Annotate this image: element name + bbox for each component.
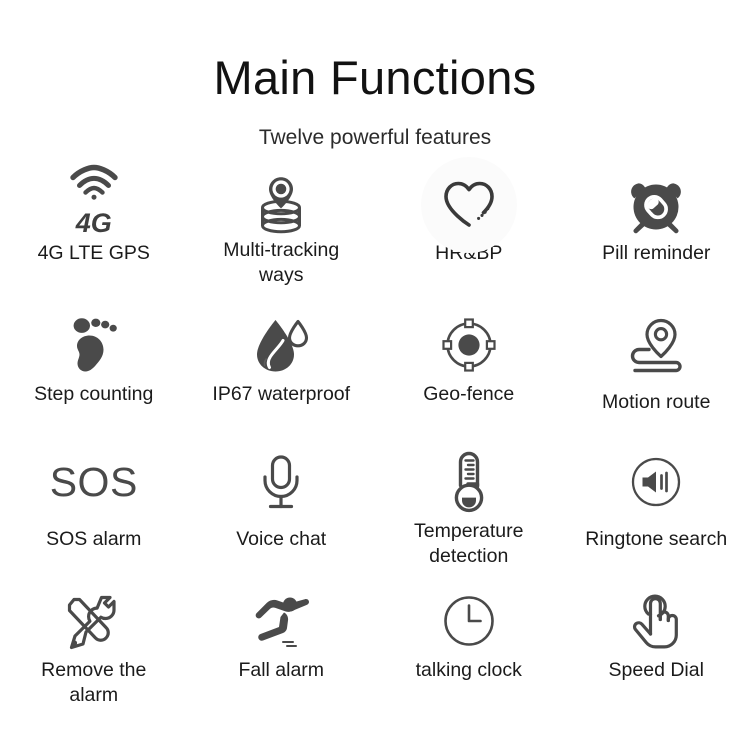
icon-container: 4G [55,172,133,238]
footprint-icon [68,316,120,374]
icon-container [242,448,320,516]
feature-label: Step counting [34,382,153,407]
icon-container [55,587,133,655]
icon-container [617,172,695,238]
feature-label: Pill reminder [602,241,710,266]
feature-label: IP67 waterproof [212,382,350,407]
feature-sos-alarm[interactable]: SOS SOS alarm [0,442,188,577]
feature-fall-alarm[interactable]: Fall alarm [188,577,376,712]
feature-talking-clock[interactable]: talking clock [375,577,563,712]
clock-icon [443,595,495,647]
geo-fence-icon [441,317,497,373]
feature-ip67-waterproof[interactable]: IP67 waterproof [188,307,376,442]
tap-hand-icon [631,593,681,649]
feature-label: Remove the alarm [41,658,146,708]
icon-container [617,448,695,516]
feature-pill-reminder[interactable]: Pill reminder [563,172,750,307]
feature-step-counting[interactable]: Step counting [0,307,188,442]
feature-4g-lte-gps[interactable]: 4G 4G LTE GPS [0,172,188,307]
4g-badge-label: 4G [76,201,112,245]
speaker-volume-icon [631,457,681,507]
header: Main Functions Twelve powerful features [0,0,750,151]
icon-container [430,172,508,238]
feature-remove-the-alarm[interactable]: Remove the alarm [0,577,188,712]
feature-temperature-detection[interactable]: Temperature detection [375,442,563,577]
feature-label: Temperature detection [414,519,523,569]
feature-geo-fence[interactable]: Geo-fence [375,307,563,442]
features-grid: 4G 4G LTE GPS Multi-tracking ways [0,172,750,712]
feature-label: Ringtone search [585,527,727,552]
alarm-clock-pill-icon [627,176,685,234]
falling-person-icon [251,595,311,647]
feature-label: SOS alarm [46,527,141,552]
microphone-icon [259,454,303,510]
icon-container [55,311,133,379]
feature-ringtone-search[interactable]: Ringtone search [563,442,750,577]
icon-container [242,311,320,379]
thermometer-icon [451,451,487,513]
feature-label: Motion route [602,390,710,415]
feature-label: talking clock [416,658,522,683]
feature-label: 4G LTE GPS [38,241,150,266]
water-drop-icon [253,316,309,374]
icon-container [617,587,695,655]
feature-label: Geo-fence [423,382,514,407]
wifi-signal-icon [70,166,118,200]
icon-container [617,311,695,379]
feature-hr-bp[interactable]: HR&BP [375,172,563,307]
page-title: Main Functions [0,50,750,106]
feature-motion-route[interactable]: Motion route [563,307,750,442]
icon-container [430,448,508,516]
icon-container [242,172,320,238]
main-functions-poster: Main Functions Twelve powerful features … [0,0,750,750]
sos-text-icon: SOS [50,460,138,504]
icon-container: SOS [55,448,133,516]
feature-label: Multi-tracking ways [223,238,339,288]
page-subtitle: Twelve powerful features [0,125,750,151]
heart-pulse-icon [441,179,497,231]
wifi-4g-icon: 4G [70,166,118,245]
motion-route-icon [627,318,685,372]
icon-container [430,311,508,379]
feature-label: Voice chat [236,527,326,552]
wrench-screwdriver-icon [66,593,122,649]
feature-label: Speed Dial [609,658,704,683]
feature-multi-tracking-ways[interactable]: Multi-tracking ways [188,172,376,307]
icon-container [430,587,508,655]
feature-speed-dial[interactable]: Speed Dial [563,577,750,712]
pin-on-discs-icon [252,174,310,236]
icon-container [242,587,320,655]
feature-voice-chat[interactable]: Voice chat [188,442,376,577]
feature-label: Fall alarm [238,658,324,683]
